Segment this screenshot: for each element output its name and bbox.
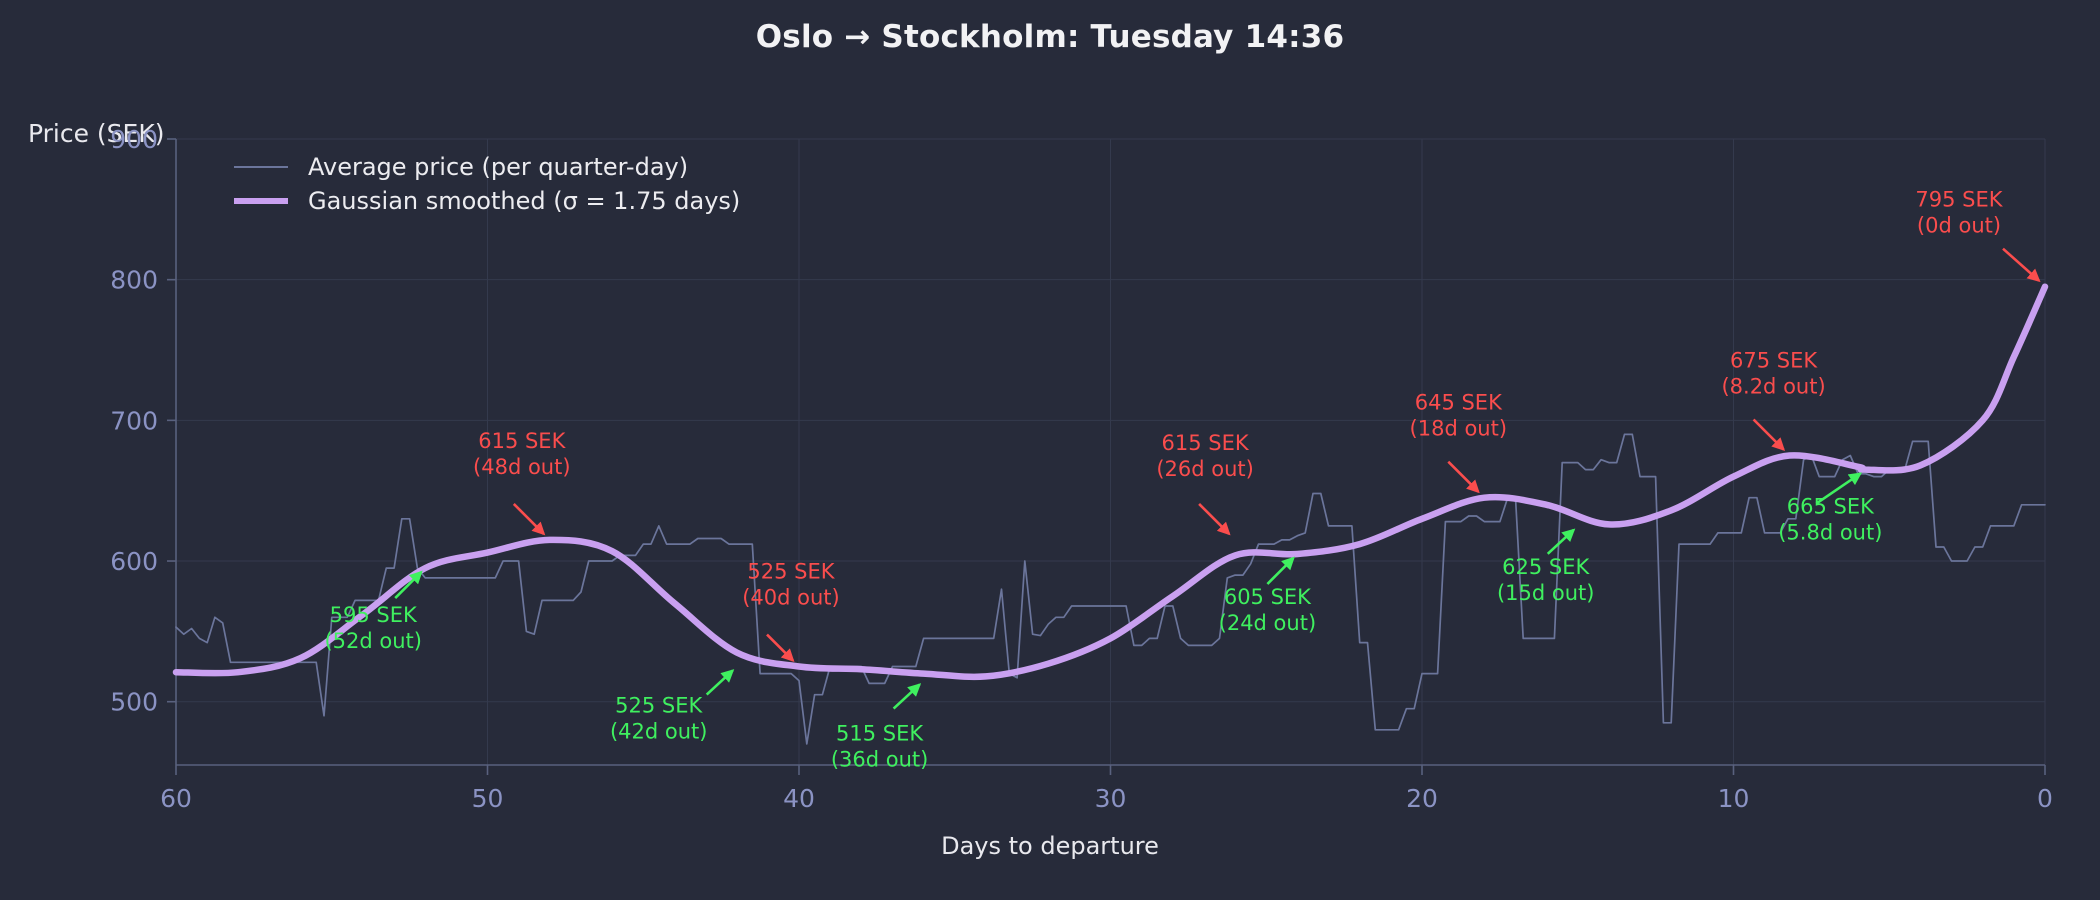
svg-text:0: 0 <box>2037 784 2053 813</box>
svg-text:40: 40 <box>783 784 815 813</box>
svg-text:700: 700 <box>110 406 158 435</box>
x-axis-ticks: 6050403020100 <box>160 765 2053 813</box>
annotation-value: 645 SEK <box>1415 391 1503 415</box>
gridlines <box>176 139 2045 765</box>
annotations-layer: 615 SEK(48d out)595 SEK(52d out)525 SEK(… <box>324 188 2039 772</box>
annotation-days: (5.8d out) <box>1778 521 1882 545</box>
annotation-days: (52d out) <box>324 629 422 653</box>
annotation-low-605-24: 605 SEK(24d out) <box>1219 558 1317 635</box>
annotation-days: (40d out) <box>742 586 840 610</box>
annotation-value: 515 SEK <box>836 722 924 746</box>
annotation-value: 605 SEK <box>1224 585 1312 609</box>
annotation-low-625-15: 625 SEK(15d out) <box>1497 530 1595 605</box>
svg-text:30: 30 <box>1095 784 1127 813</box>
legend-label-raw: Average price (per quarter-day) <box>308 153 688 181</box>
svg-text:800: 800 <box>110 266 158 295</box>
legend-swatch-raw <box>232 160 290 174</box>
annotation-days: (24d out) <box>1219 611 1317 635</box>
annotation-high-615-26: 615 SEK(26d out) <box>1156 431 1254 534</box>
legend-swatch-smoothed <box>232 194 290 208</box>
svg-text:20: 20 <box>1406 784 1438 813</box>
annotation-high-645-18: 645 SEK(18d out) <box>1410 391 1508 492</box>
legend-item-raw: Average price (per quarter-day) <box>232 150 740 184</box>
chart-root: Oslo → Stockholm: Tuesday 14:36 Price (S… <box>0 0 2100 900</box>
annotation-value: 615 SEK <box>1162 431 1250 455</box>
annotation-days: (36d out) <box>831 748 929 772</box>
annotation-value: 525 SEK <box>747 560 835 584</box>
svg-text:10: 10 <box>1718 784 1750 813</box>
svg-text:900: 900 <box>110 125 158 154</box>
annotation-days: (15d out) <box>1497 581 1595 605</box>
y-axis-ticks: 500600700800900 <box>110 125 176 717</box>
annotation-high-795-0: 795 SEK(0d out) <box>1915 188 2039 281</box>
annotation-days: (42d out) <box>610 720 708 744</box>
annotation-value: 595 SEK <box>330 603 418 627</box>
legend-label-smoothed: Gaussian smoothed (σ = 1.75 days) <box>308 187 740 215</box>
chart-legend: Average price (per quarter-day) Gaussian… <box>232 150 740 218</box>
annotation-days: (26d out) <box>1156 457 1254 481</box>
annotation-value: 525 SEK <box>615 694 703 718</box>
annotation-days: (18d out) <box>1410 417 1508 441</box>
svg-text:60: 60 <box>160 784 192 813</box>
annotation-days: (0d out) <box>1917 214 2001 238</box>
annotation-value: 625 SEK <box>1502 555 1590 579</box>
annotation-value: 615 SEK <box>478 429 566 453</box>
annotation-low-515-36: 515 SEK(36d out) <box>831 685 929 772</box>
annotation-value: 665 SEK <box>1787 495 1875 519</box>
annotation-value: 675 SEK <box>1730 349 1818 373</box>
annotation-days: (8.2d out) <box>1721 375 1825 399</box>
svg-text:600: 600 <box>110 547 158 576</box>
price-chart-svg: 500600700800900 6050403020100 615 SEK(48… <box>0 0 2100 900</box>
annotation-low-665-5.8: 665 SEK(5.8d out) <box>1778 474 1882 545</box>
annotation-days: (48d out) <box>473 455 571 479</box>
legend-item-smoothed: Gaussian smoothed (σ = 1.75 days) <box>232 184 740 218</box>
annotation-high-675-8.2: 675 SEK(8.2d out) <box>1721 349 1825 450</box>
annotation-value: 795 SEK <box>1915 188 2003 212</box>
svg-text:50: 50 <box>472 784 504 813</box>
annotation-low-525-42: 525 SEK(42d out) <box>610 671 733 744</box>
svg-text:500: 500 <box>110 688 158 717</box>
annotation-low-595-52: 595 SEK(52d out) <box>324 572 422 653</box>
